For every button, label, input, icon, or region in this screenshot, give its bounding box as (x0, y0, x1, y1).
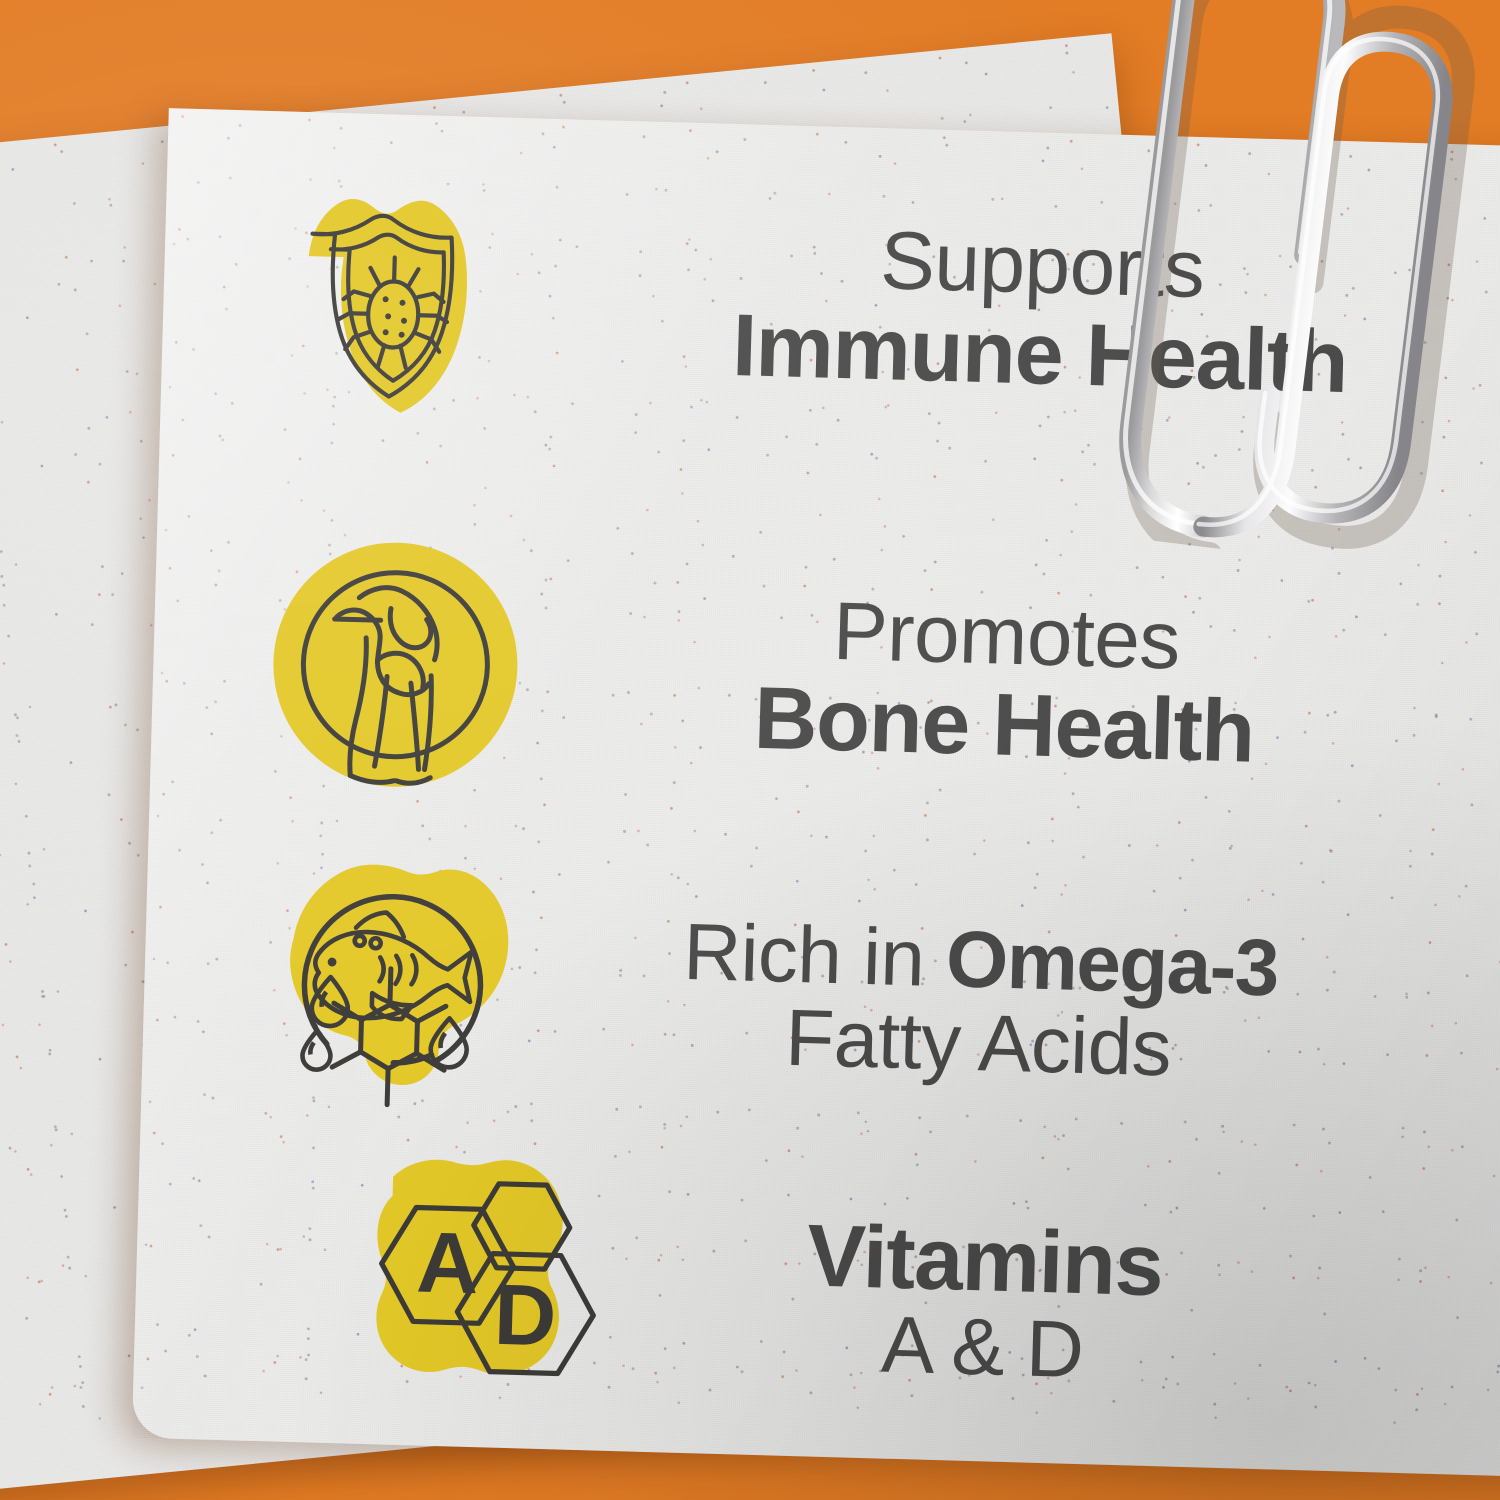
feature-text-omega3: Rich in Omega-3 Fatty Acids (680, 910, 1279, 1093)
feature-list: Supports Immune Health (132, 108, 1500, 1478)
fish-omega-icon (259, 851, 526, 1118)
feature-line-2: A & D (803, 1301, 1161, 1394)
omega-emphasis: Omega-3 (945, 914, 1279, 1012)
feature-text-bone: Promotes Bone Health (753, 586, 1258, 777)
feature-text-immune: Supports Immune Health (731, 214, 1351, 408)
bone-joint-icon (262, 531, 529, 798)
shield-bug-icon (260, 159, 527, 426)
hex-letter-d: D (493, 1267, 558, 1365)
feature-line-2: Immune Health (731, 299, 1349, 408)
vitamin-hexagons-icon: A D (312, 1143, 620, 1431)
feature-line-2: Bone Health (753, 672, 1256, 777)
feature-item-vitamins: A D Vitamins A & D (312, 1143, 1165, 1447)
feature-item-immune: Supports Immune Health (260, 159, 1352, 449)
feature-item-bone: Promotes Bone Health (262, 531, 1259, 819)
feature-item-omega3: Rich in Omega-3 Fatty Acids (259, 851, 1280, 1139)
omega-prefix: Rich in (682, 907, 947, 1003)
poster-canvas: Supports Immune Health (0, 0, 1500, 1500)
hex-letter-a: A (415, 1215, 480, 1313)
feature-text-vitamins: Vitamins A & D (803, 1209, 1163, 1394)
feature-line-1: Vitamins (806, 1209, 1164, 1310)
feature-line-1: Rich in Omega-3 (682, 910, 1279, 1010)
